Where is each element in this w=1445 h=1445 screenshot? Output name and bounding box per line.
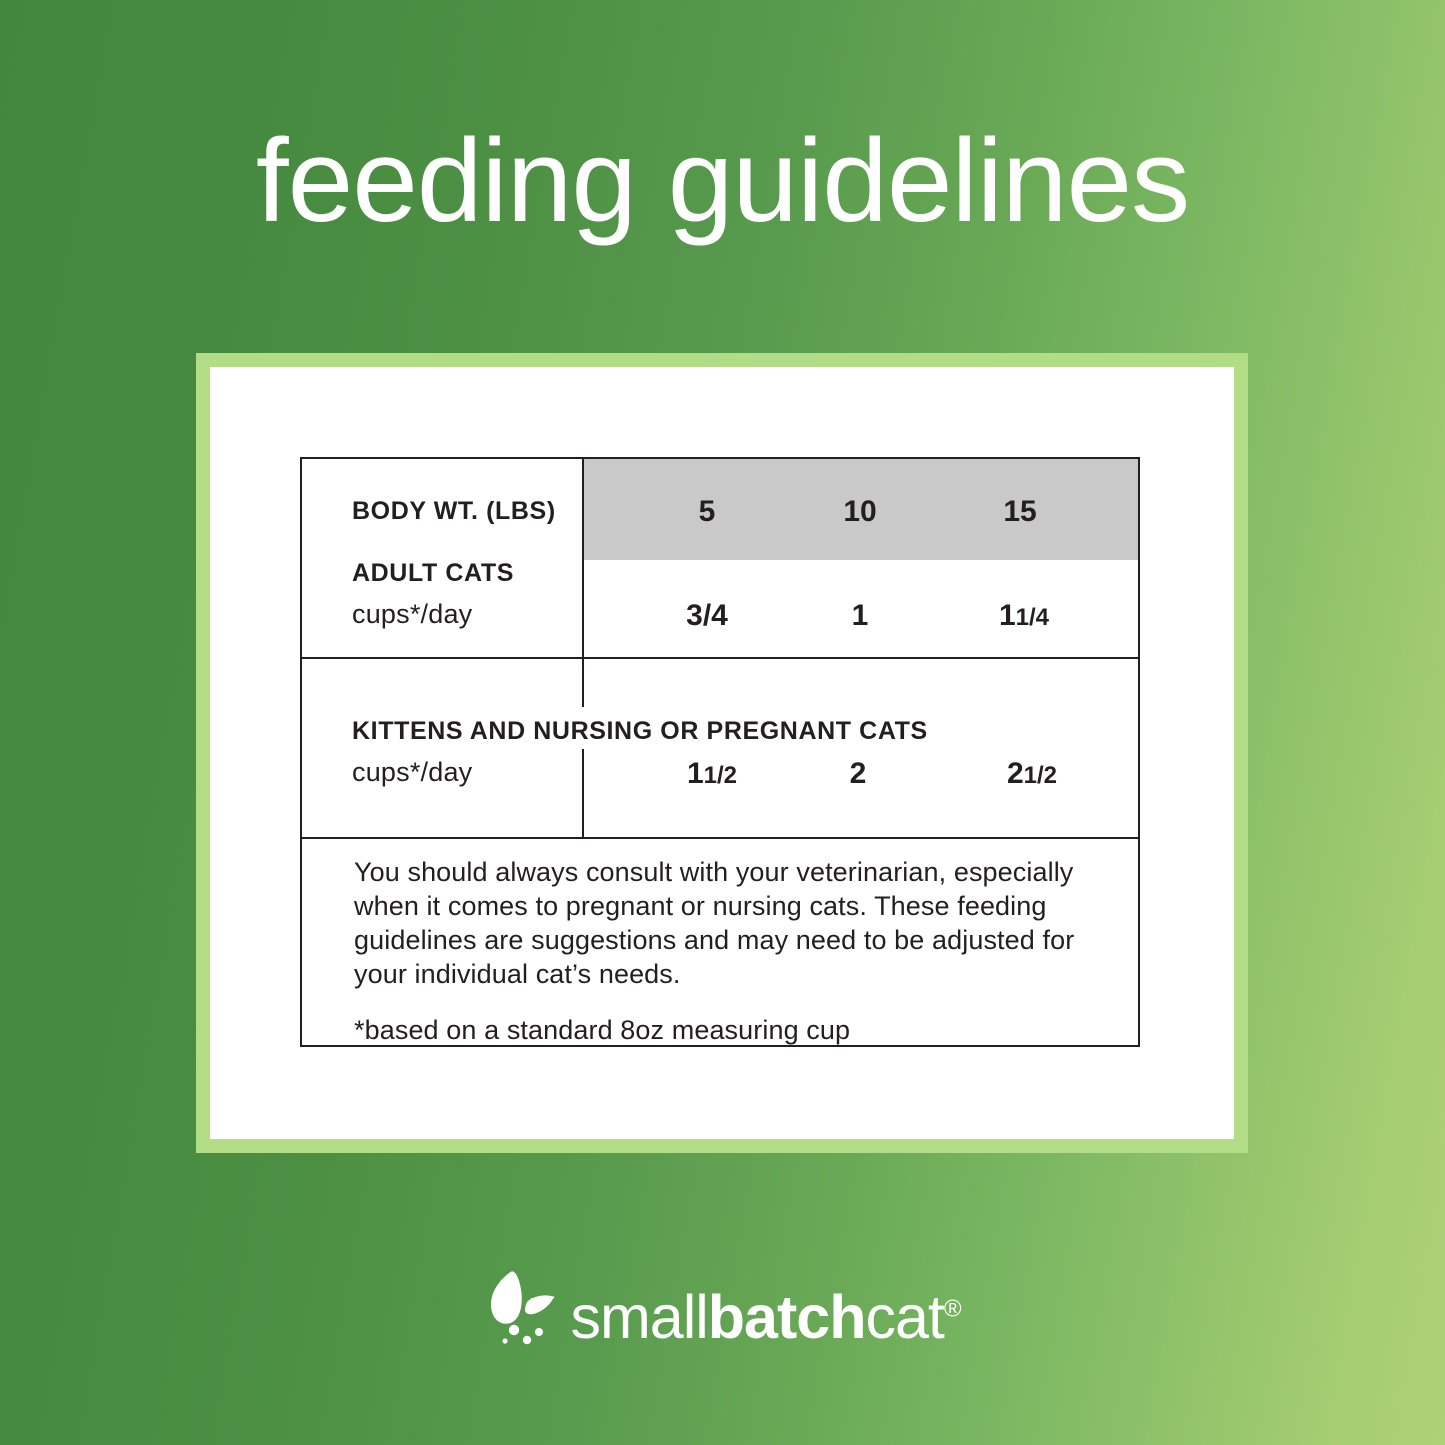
feeding-guidelines-page: feeding guidelines BODY WT. (LBS) 5 10 1… [0, 0, 1445, 1445]
weight-column-3: 15 [1003, 495, 1036, 529]
brand-part-batch: batch [708, 1283, 866, 1351]
page-title: feeding guidelines [0, 122, 1445, 240]
kittens-value-1-whole: 1 [687, 757, 704, 790]
leaf-sprout-icon [484, 1268, 566, 1352]
page-title-part1: feeding [256, 115, 636, 247]
table-disclaimer-divider [302, 837, 1138, 839]
adult-cats-value-1: 3/4 [686, 599, 728, 633]
kittens-unit: cups*/day [352, 757, 472, 788]
kittens-value-3-whole: 2 [1007, 757, 1024, 790]
kittens-value-1: 11/2 [687, 757, 737, 791]
adult-cats-label: ADULT CATS [352, 559, 514, 588]
kittens-label: KITTENS AND NURSING OR PREGNANT CATS [352, 717, 928, 746]
adult-cats-value-2: 1 [852, 599, 869, 633]
adult-cats-unit: cups*/day [352, 599, 472, 630]
footnote-text: *based on a standard 8oz measuring cup [354, 1013, 1098, 1047]
brand-logo: smallbatchcat® [0, 1268, 1445, 1357]
adult-cats-value-3: 11/4 [999, 599, 1049, 633]
adult-cats-value-3-whole: 1 [999, 599, 1016, 632]
brand-part-cat: cat [865, 1283, 943, 1351]
registered-trademark-icon: ® [944, 1296, 961, 1323]
brand-part-small: small [570, 1283, 707, 1351]
brand-wordmark: smallbatchcat® [570, 1287, 960, 1348]
kittens-value-3: 21/2 [1007, 757, 1057, 791]
table-vertical-divider-top [582, 459, 584, 707]
table-vertical-divider-bottom [582, 749, 584, 837]
disclaimer-block: You should always consult with your vete… [354, 855, 1098, 1047]
kittens-value-2: 2 [850, 757, 867, 791]
weight-column-2: 10 [843, 495, 876, 529]
body-weight-label: BODY WT. (LBS) [352, 497, 556, 526]
disclaimer-text: You should always consult with your vete… [354, 857, 1074, 989]
page-title-part2: guidelines [668, 115, 1189, 247]
kittens-value-1-frac: 1/2 [704, 762, 737, 789]
table-section-divider [302, 657, 1138, 659]
weight-column-1: 5 [699, 495, 716, 529]
feeding-table: BODY WT. (LBS) 5 10 15 ADULT CATS cups*/… [300, 457, 1140, 1047]
kittens-value-3-frac: 1/2 [1024, 762, 1057, 789]
adult-cats-value-3-frac: 1/4 [1016, 604, 1049, 631]
